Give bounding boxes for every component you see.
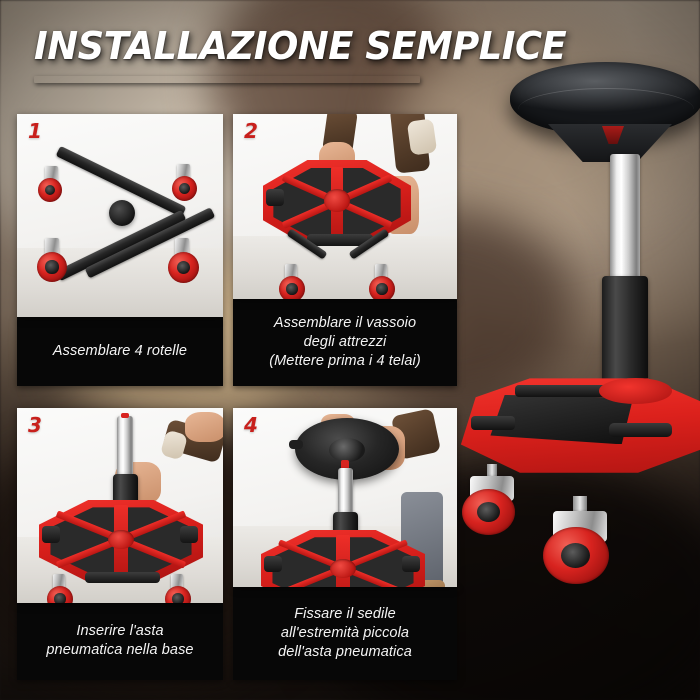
step-caption-1: Assemblare 4 rotelle — [17, 317, 223, 386]
chrome-rod — [117, 416, 133, 478]
caster-wheel — [369, 276, 395, 299]
rod-tip — [121, 413, 129, 418]
tool-tray-illustration — [261, 530, 425, 587]
tool-tray-illustration — [39, 500, 203, 582]
hero-product-photo — [452, 26, 700, 686]
step-number-3: 3 — [28, 415, 42, 435]
title-underline-rule — [34, 76, 420, 83]
step-photo-4: 4 — [233, 408, 457, 587]
chrome-rod — [338, 468, 353, 516]
seat-mount-plate — [329, 438, 365, 462]
step-caption-text: Assemblare 4 rotelle — [53, 342, 187, 361]
step-photo-3: 3 — [17, 408, 223, 603]
step-card-2: 2 — [233, 114, 457, 386]
step-number-4: 4 — [244, 415, 258, 435]
caster-wheel — [38, 178, 62, 202]
frame-center-hub — [109, 200, 135, 226]
header: INSTALLAZIONE SEMPLICE — [34, 24, 464, 83]
steps-grid: 1 Assem — [17, 114, 463, 680]
caster-wheel — [165, 586, 191, 603]
seat-lever — [289, 440, 303, 449]
caster-wheel — [168, 252, 199, 283]
hero-cylinder-sleeve — [602, 276, 648, 388]
step-card-3: 3 — [17, 408, 223, 680]
step-number-1: 1 — [28, 121, 42, 141]
step-number-2: 2 — [244, 121, 258, 141]
step-caption-text: Fissare il sedile all'estremità piccola … — [278, 605, 412, 662]
infographic-canvas: INSTALLAZIONE SEMPLICE 1 — [0, 0, 700, 700]
step-photo-1: 1 — [17, 114, 223, 317]
cuff-right — [407, 118, 437, 155]
step-caption-3: Inserire l'asta pneumatica nella base — [17, 603, 223, 680]
tool-tray-illustration — [263, 160, 411, 246]
step-caption-2: Assemblare il vassoio degli attrezzi (Me… — [233, 299, 457, 386]
hero-caster-front — [538, 496, 622, 588]
hero-caster-left — [458, 464, 526, 538]
step-photo-2: 2 — [233, 114, 457, 299]
step-caption-text: Assemblare il vassoio degli attrezzi (Me… — [269, 314, 421, 371]
step-caption-text: Inserire l'asta pneumatica nella base — [46, 622, 193, 660]
caster-wheel — [279, 276, 305, 299]
hero-chrome-cylinder — [610, 154, 640, 280]
forearm — [185, 412, 223, 442]
caster-wheel — [172, 176, 197, 201]
caster-wheel — [47, 586, 73, 603]
step-card-4: 4 — [233, 408, 457, 680]
page-title: INSTALLAZIONE SEMPLICE — [34, 24, 451, 68]
step-card-1: 1 Assem — [17, 114, 223, 386]
step-caption-4: Fissare il sedile all'estremità piccola … — [233, 587, 457, 680]
caster-wheel — [37, 252, 67, 282]
